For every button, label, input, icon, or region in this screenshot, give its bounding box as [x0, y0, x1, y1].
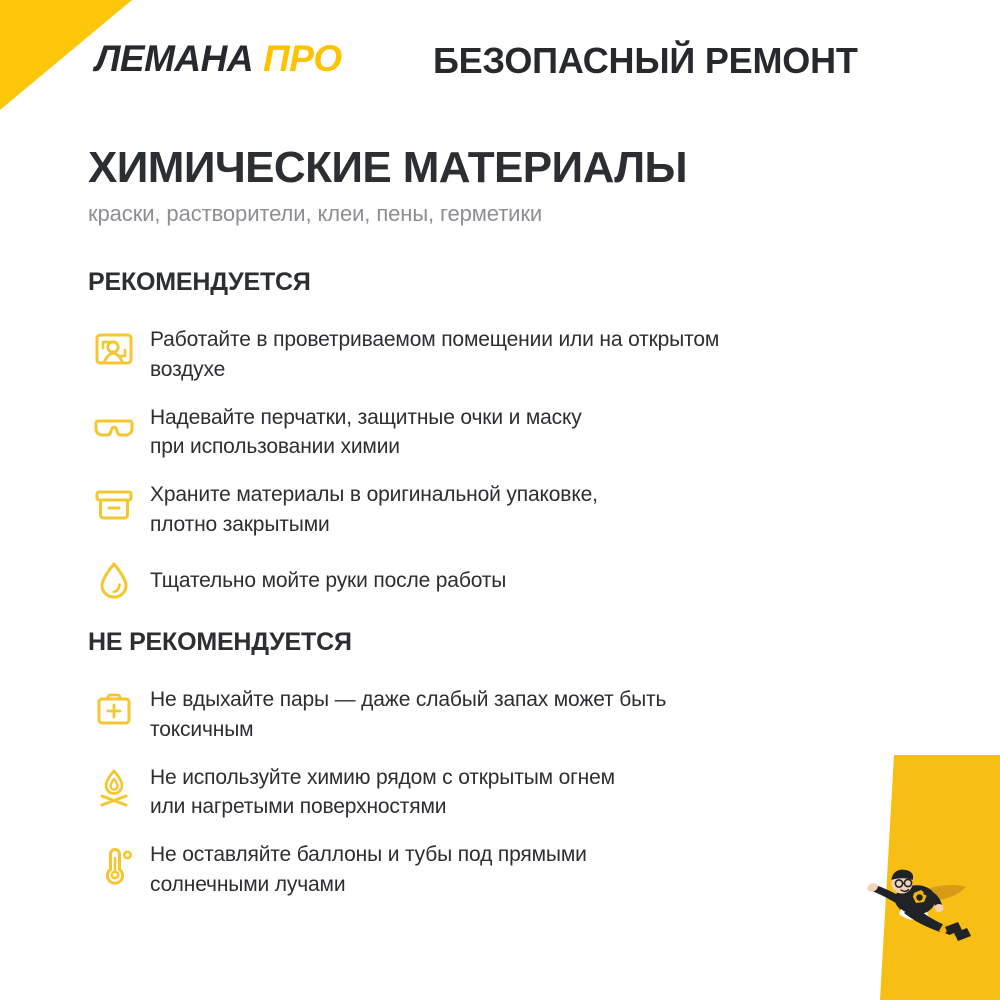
thermometer-sun-icon	[88, 836, 150, 894]
infographic-page: ЛЕМАНАПРО БЕЗОПАСНЫЙ РЕМОНТ ХИМИЧЕСКИЕ М…	[0, 0, 1000, 1000]
list-item-line-1: Не используйте химию рядом с открытым ог…	[150, 763, 918, 793]
page-title: ХИМИЧЕСКИЕ МАТЕРИАЛЫ	[88, 145, 908, 191]
list-item-text: Работайте в проветриваемом помещении или…	[150, 319, 918, 385]
section-heading-not-recommended: НЕ РЕКОМЕНДУЕТСЯ	[88, 628, 918, 657]
window-ventilation-icon	[88, 321, 150, 379]
brand-name-accent: ПРО	[263, 38, 342, 79]
campaign-title: БЕЗОПАСНЫЙ РЕМОНТ	[433, 40, 858, 82]
brand-name-dark: ЛЕМАНА	[95, 38, 253, 79]
list-item-line-1: Храните материалы в оригинальной упаковк…	[150, 480, 918, 510]
list-item-line-2: при использовании химии	[150, 432, 918, 462]
list-item-line-2: токсичным	[150, 715, 918, 745]
storage-box-icon	[88, 476, 150, 534]
list-item-line-2: плотно закрытыми	[150, 510, 918, 540]
list-item: Не оставляйте баллоны и тубы под прямыми…	[88, 834, 918, 900]
list-item-line-1: Работайте в проветриваемом помещении или…	[150, 325, 918, 355]
not-recommended-list: Не вдыхайте пары — даже слабый запах мож…	[88, 679, 918, 900]
flying-superhero-mascot	[846, 847, 986, 952]
list-item: Надевайте перчатки, защитные очки и маск…	[88, 397, 918, 463]
list-item-text: Не используйте химию рядом с открытым ог…	[150, 757, 918, 823]
list-item-line-1: Не вдыхайте пары — даже слабый запах мож…	[150, 685, 918, 715]
list-item-line-1: Тщательно мойте руки после работы	[150, 566, 918, 596]
list-item-line-1: Надевайте перчатки, защитные очки и маск…	[150, 403, 918, 433]
list-item: Не используйте химию рядом с открытым ог…	[88, 757, 918, 823]
section-recommended: РЕКОМЕНДУЕТСЯ Работайте в проветриваемом…	[88, 268, 918, 622]
header: ЛЕМАНАПРО БЕЗОПАСНЫЙ РЕМОНТ	[0, 0, 1000, 120]
list-item-line-2: или нагретыми поверхностями	[150, 792, 918, 822]
list-item-text: Храните материалы в оригинальной упаковк…	[150, 474, 918, 540]
list-item: Не вдыхайте пары — даже слабый запах мож…	[88, 679, 918, 745]
list-item: Храните материалы в оригинальной упаковк…	[88, 474, 918, 540]
section-not-recommended: НЕ РЕКОМЕНДУЕТСЯ Не вдыхайте пары — даже…	[88, 628, 918, 912]
page-subtitle: краски, растворители, клеи, пены, гермет…	[88, 201, 908, 227]
list-item-line-1: Не оставляйте баллоны и тубы под прямыми	[150, 840, 918, 870]
water-drop-icon	[88, 552, 150, 610]
list-item-text: Не оставляйте баллоны и тубы под прямыми…	[150, 834, 918, 900]
campfire-flame-icon	[88, 759, 150, 817]
list-item: Работайте в проветриваемом помещении или…	[88, 319, 918, 385]
recommended-list: Работайте в проветриваемом помещении или…	[88, 319, 918, 610]
section-heading-recommended: РЕКОМЕНДУЕТСЯ	[88, 268, 918, 297]
title-block: ХИМИЧЕСКИЕ МАТЕРИАЛЫ краски, растворител…	[88, 145, 908, 227]
safety-goggles-icon	[88, 399, 150, 457]
brand-logo: ЛЕМАНАПРО	[95, 38, 342, 80]
list-item-line-2: воздухе	[150, 355, 918, 385]
list-item-text: Не вдыхайте пары — даже слабый запах мож…	[150, 679, 918, 745]
list-item-text: Тщательно мойте руки после работы	[150, 552, 918, 596]
list-item-line-2: солнечными лучами	[150, 870, 918, 900]
list-item: Тщательно мойте руки после работы	[88, 552, 918, 610]
list-item-text: Надевайте перчатки, защитные очки и маск…	[150, 397, 918, 463]
first-aid-kit-icon	[88, 681, 150, 739]
